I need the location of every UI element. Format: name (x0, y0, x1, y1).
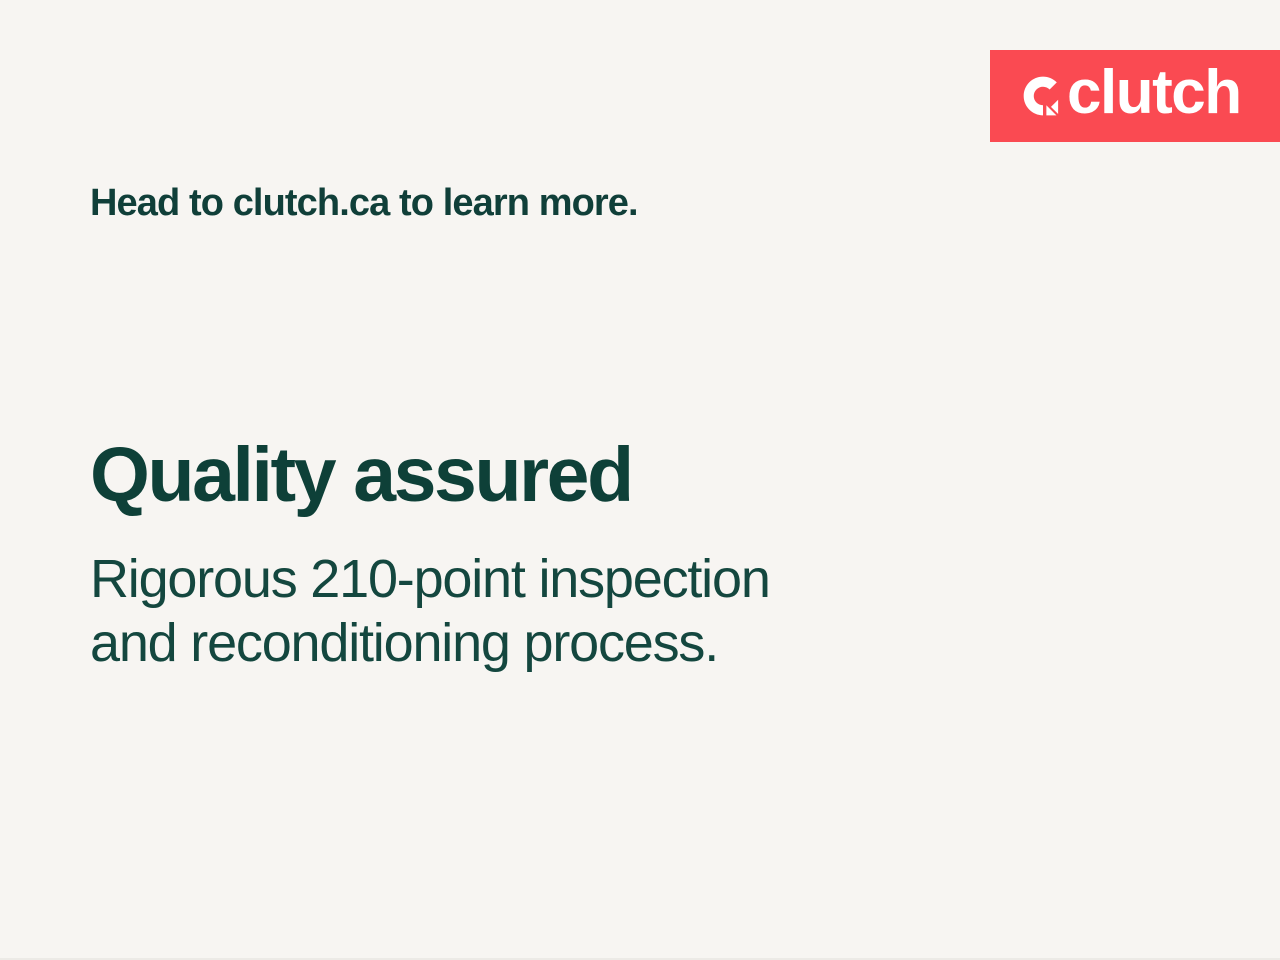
slide-canvas: clutch Head to clutch.ca to learn more. … (0, 0, 1280, 960)
clutch-c-mark-icon (1022, 75, 1064, 117)
subheadline-line-1: Rigorous 210-point inspection (90, 547, 770, 611)
page-title: Quality assured (90, 437, 632, 514)
clutch-logo-block[interactable]: clutch (990, 50, 1280, 142)
subheadline: Rigorous 210-point inspection and recond… (90, 547, 770, 675)
eyebrow-cta-text: Head to clutch.ca to learn more. (90, 182, 638, 226)
subheadline-line-2: and reconditioning process. (90, 611, 770, 675)
clutch-wordmark: clutch (1067, 62, 1241, 124)
